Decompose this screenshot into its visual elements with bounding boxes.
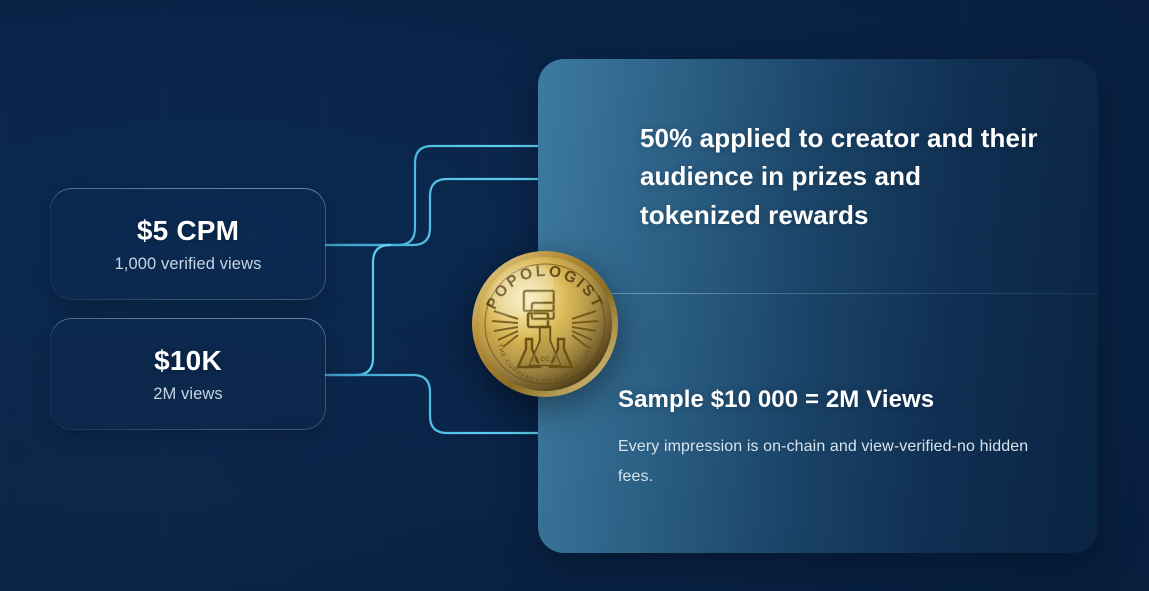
connector-card1-to-panel-top	[326, 146, 560, 245]
card-cpm-subtitle: 1,000 verified views	[115, 255, 262, 274]
panel-headline: 50% applied to creator and their audienc…	[640, 119, 1040, 234]
panel-divider	[538, 293, 1098, 294]
panel-top-section: 50% applied to creator and their audienc…	[640, 119, 1040, 234]
connector-card1-to-panel-second	[326, 179, 560, 245]
connector-card2-riser	[326, 245, 390, 375]
card-cpm[interactable]: $5 CPM 1,000 verified views	[50, 188, 326, 300]
panel-sample-title: Sample $10 000 = 2M Views	[618, 386, 1058, 414]
card-ten-k-subtitle: 2M views	[153, 385, 223, 404]
card-ten-k-title: $10K	[154, 345, 222, 377]
panel-bottom-section: Sample $10 000 = 2M Views Every impressi…	[618, 386, 1058, 491]
info-panel: 50% applied to creator and their audienc…	[538, 59, 1098, 553]
coin-flask-mark: CC	[540, 356, 550, 363]
card-ten-k[interactable]: $10K 2M views	[50, 318, 326, 430]
infographic-stage: $5 CPM 1,000 verified views $10K 2M view…	[0, 0, 1149, 591]
panel-sample-body: Every impression is on-chain and view-ve…	[618, 432, 1058, 491]
popologist-coin-icon: POPOLOGIST THE CURRENCY OF POP CULTURE	[470, 249, 620, 399]
card-cpm-title: $5 CPM	[137, 215, 239, 247]
